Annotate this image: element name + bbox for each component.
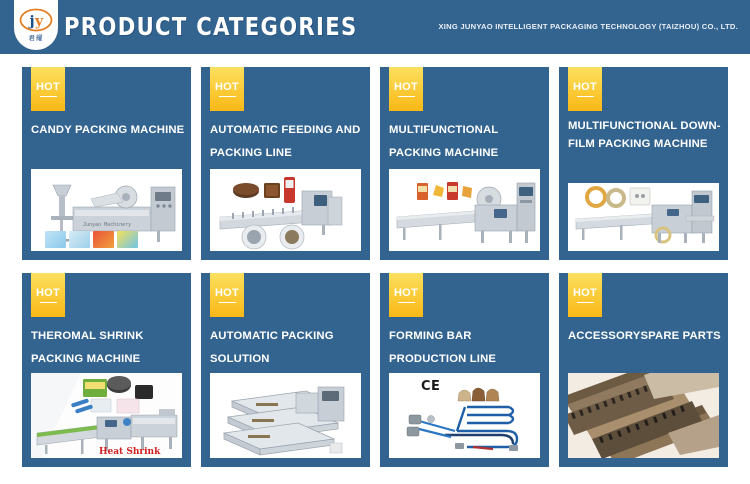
svg-text:Heat Shrink: Heat Shrink (99, 447, 161, 457)
svg-text:E: E (431, 379, 440, 394)
hot-badge-underline (219, 302, 236, 304)
category-title: CANDY PACKING MACHINE (31, 119, 186, 142)
hot-badge-label: HOT (394, 287, 418, 299)
product-samples (45, 231, 138, 248)
jy-logo-icon: j y (19, 7, 53, 33)
category-title: FORMING BAR PRODUCTION LINE (389, 325, 544, 371)
hot-badge: HOT (31, 67, 65, 111)
logo-chinese-text: 君耀 (29, 34, 44, 42)
hot-badge-label: HOT (215, 287, 239, 299)
hot-badge-label: HOT (36, 81, 60, 93)
page-title: PRODUCT CATEGORIES (64, 12, 358, 41)
category-card-theromal-shrink-packing-machine[interactable]: HOT THEROMAL SHRINK PACKING MACHINE (22, 273, 191, 467)
hot-badge: HOT (568, 273, 602, 317)
hot-badge: HOT (210, 67, 244, 111)
hot-badge-underline (577, 96, 594, 98)
hot-badge: HOT (389, 67, 423, 111)
category-grid: HOT CANDY PACKING MACHINE (22, 67, 728, 467)
category-card-automatic-packing-solution[interactable]: HOT AUTOMATIC PACKING SOLUTION (201, 273, 370, 467)
category-card-forming-bar-production-line[interactable]: HOT FORMING BAR PRODUCTION LINE C E (380, 273, 549, 467)
hot-badge: HOT (210, 273, 244, 317)
company-name: XING JUNYAO INTELLIGENT PACKAGING TECHNO… (438, 22, 738, 31)
category-image[interactable]: Junyao Machinery (31, 169, 182, 251)
hot-badge: HOT (31, 273, 65, 317)
category-title: THEROMAL SHRINK PACKING MACHINE (31, 325, 186, 371)
category-card-multifunctional-down-film-packing-machine[interactable]: HOT MULTIFUNCTIONAL DOWN-FILM PACKING MA… (559, 67, 728, 260)
category-image[interactable] (568, 183, 719, 251)
svg-text:j: j (28, 13, 35, 29)
category-title: MULTIFUNCTIONAL PACKING MACHINE (389, 119, 544, 165)
hot-badge-underline (398, 302, 415, 304)
hot-badge: HOT (568, 67, 602, 111)
category-image[interactable] (389, 169, 540, 251)
hot-badge-label: HOT (573, 287, 597, 299)
company-logo[interactable]: j y 君耀 (14, 0, 58, 50)
svg-text:Junyao Machinery: Junyao Machinery (83, 222, 131, 228)
hot-badge-label: HOT (36, 287, 60, 299)
category-title: ACCESSORYSPARE PARTS (568, 325, 723, 348)
hot-badge-underline (398, 96, 415, 98)
category-image[interactable]: Heat Shrink (31, 373, 182, 458)
hot-badge-label: HOT (573, 81, 597, 93)
category-card-automatic-feeding-and-packing-line[interactable]: HOT AUTOMATIC FEEDING AND PACKING LINE (201, 67, 370, 260)
svg-text:y: y (34, 13, 44, 29)
hot-badge-underline (40, 96, 57, 98)
category-title: AUTOMATIC PACKING SOLUTION (210, 325, 365, 371)
category-card-multifunctional-packing-machine[interactable]: HOT MULTIFUNCTIONAL PACKING MACHINE (380, 67, 549, 260)
category-title: AUTOMATIC FEEDING AND PACKING LINE (210, 119, 365, 165)
category-card-candy-packing-machine[interactable]: HOT CANDY PACKING MACHINE (22, 67, 191, 260)
svg-text:C: C (421, 379, 431, 394)
hot-badge-label: HOT (394, 81, 418, 93)
category-image[interactable]: C E (389, 373, 540, 458)
category-image[interactable] (210, 373, 361, 458)
hot-badge-underline (577, 302, 594, 304)
category-title: MULTIFUNCTIONAL DOWN-FILM PACKING MACHIN… (568, 117, 723, 153)
hot-badge: HOT (389, 273, 423, 317)
hot-badge-underline (40, 302, 57, 304)
hot-badge-underline (219, 96, 236, 98)
category-card-accessoryspare-parts[interactable]: HOT ACCESSORYSPARE PARTS (559, 273, 728, 467)
category-image[interactable] (568, 373, 719, 458)
category-image[interactable] (210, 169, 361, 251)
page-header: j y 君耀 PRODUCT CATEGORIES XING JUNYAO IN… (0, 0, 750, 54)
hot-badge-label: HOT (215, 81, 239, 93)
